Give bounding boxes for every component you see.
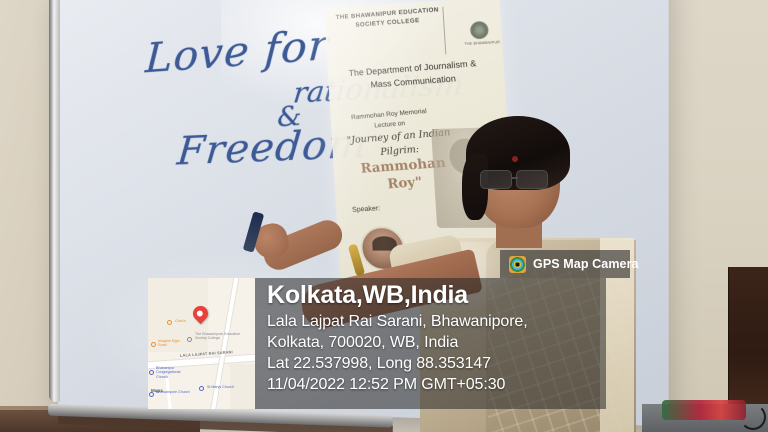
college-logo-icon bbox=[470, 21, 489, 40]
map-poi-icon bbox=[187, 337, 192, 342]
location-address-line-2: Kolkata, 700020, WB, India bbox=[267, 332, 606, 353]
map-poi-icon bbox=[167, 320, 172, 325]
map-poi-icon bbox=[199, 386, 204, 391]
map-poi-label: Chai ki bbox=[175, 319, 186, 323]
location-text-block: Kolkata,WB,India Lala Lajpat Rai Sarani,… bbox=[255, 278, 606, 409]
wall-notice-board bbox=[728, 267, 768, 412]
location-stamp-overlay: Chai ki The Bhawanipore Education Societ… bbox=[148, 278, 606, 409]
map-poi-label: Bhabanipur Congregational Church bbox=[156, 366, 190, 379]
slide-college-name: THE BHAWANIPUR EDUCATION SOCIETY COLLEGE bbox=[332, 6, 443, 32]
bangle bbox=[348, 243, 365, 276]
desk-cable bbox=[740, 404, 766, 430]
map-poi-icon bbox=[151, 342, 156, 347]
bindi bbox=[512, 156, 518, 162]
map-poi-label: Imagine Elgin Road bbox=[158, 339, 184, 348]
whiteboard-text-line-1: Love for bbox=[144, 21, 331, 82]
glasses-right-lens bbox=[516, 170, 548, 189]
location-coordinates: Lat 22.537998, Long 88.353147 bbox=[267, 353, 606, 374]
location-datetime: 11/04/2022 12:52 PM GMT+05:30 bbox=[267, 374, 606, 395]
glasses-left-lens bbox=[480, 170, 512, 189]
photo-scene: Love for rationalism & Freedom THE BHAWA… bbox=[0, 0, 768, 432]
location-address-line-1: Lala Lajpat Rai Sarani, Bhawanipore, bbox=[267, 311, 606, 332]
gps-map-camera-badge: GPS Map Camera bbox=[500, 250, 630, 278]
slide-divider bbox=[442, 7, 446, 54]
map-poi-label: St Marys Church bbox=[207, 385, 234, 389]
location-city: Kolkata,WB,India bbox=[267, 281, 606, 311]
map-thumbnail: Chai ki The Bhawanipore Education Societ… bbox=[148, 278, 255, 409]
gps-map-camera-label: GPS Map Camera bbox=[533, 257, 639, 271]
glasses-bridge bbox=[511, 177, 518, 179]
slide-logo-caption: THE BHAWANIPUR bbox=[464, 40, 500, 46]
desk-items bbox=[662, 400, 746, 420]
slide-department: The Department of Journalism & Mass Comm… bbox=[341, 56, 486, 93]
map-poi-icon bbox=[149, 370, 154, 375]
gps-map-camera-app-icon bbox=[509, 256, 526, 273]
map-poi-label: The Bhawanipore Education Society Colleg… bbox=[195, 332, 247, 341]
map-watermark: Maps bbox=[151, 388, 163, 393]
